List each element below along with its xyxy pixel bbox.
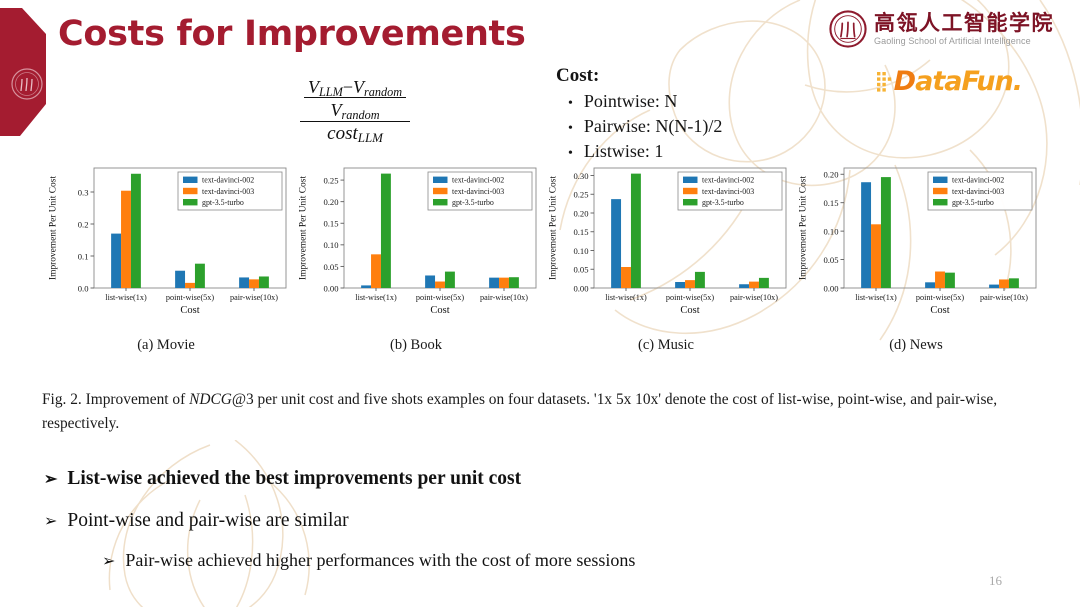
bullet-pointwise-pairwise-similar: ➢ Point-wise and pair-wise are similar bbox=[44, 510, 944, 532]
arrow-bullet-icon: ➢ bbox=[44, 514, 57, 530]
datafun-letters-rest: ataFun. bbox=[915, 66, 1022, 97]
bullet-text: List-wise achieved the best improvements… bbox=[67, 468, 521, 490]
datafun-logo: DataFun. bbox=[876, 66, 1022, 97]
datafun-letter-d: D bbox=[894, 66, 915, 97]
bullet-dot-icon: • bbox=[568, 147, 573, 161]
bullet-dot-icon: • bbox=[568, 122, 573, 136]
subcaption-movie: (a) Movie bbox=[42, 337, 290, 354]
cost-item-label: Listwise: 1 bbox=[584, 141, 664, 162]
subfigure-captions: (a) Movie (b) Book (c) Music (d) News bbox=[42, 337, 1042, 359]
cost-heading: Cost: bbox=[556, 65, 722, 87]
subcaption-news: (d) News bbox=[792, 337, 1040, 354]
datafun-dots-icon bbox=[876, 69, 893, 95]
subcaption-music: (c) Music bbox=[542, 337, 790, 354]
cost-block: Cost: • Pointwise: N • Pairwise: N(N-1)/… bbox=[556, 65, 722, 162]
arrow-bullet-icon: ➢ bbox=[102, 554, 115, 570]
cost-item-pairwise: • Pairwise: N(N-1)/2 bbox=[556, 116, 722, 137]
arrow-bullet-icon: ➢ bbox=[44, 472, 57, 488]
cost-item-pointwise: • Pointwise: N bbox=[556, 91, 722, 112]
page-title: Costs for Improvements bbox=[58, 14, 526, 54]
bullet-text: Pair-wise achieved higher performances w… bbox=[125, 550, 635, 571]
improvement-per-cost-formula: VLLM−Vrandom Vrandom costLLM bbox=[300, 77, 410, 146]
page-number: 16 bbox=[989, 573, 1002, 589]
cost-item-label: Pointwise: N bbox=[584, 91, 678, 112]
bullet-text: Point-wise and pair-wise are similar bbox=[67, 510, 348, 532]
university-seal-icon bbox=[829, 10, 867, 48]
bullet-pairwise-sessions: ➢ Pair-wise achieved higher performances… bbox=[102, 550, 944, 571]
bullet-list: ➢ List-wise achieved the best improvemen… bbox=[44, 468, 944, 571]
university-name-cn: 高瓴人工智能学院 bbox=[874, 13, 1054, 34]
cost-item-label: Pairwise: N(N-1)/2 bbox=[584, 116, 722, 137]
slide-canvas: Costs for Improvements 高瓴人工智能学院 Gaoling … bbox=[0, 0, 1080, 607]
bullet-dot-icon: • bbox=[568, 97, 573, 111]
cost-item-listwise: • Listwise: 1 bbox=[556, 141, 722, 162]
university-brand: 高瓴人工智能学院 Gaoling School of Artificial In… bbox=[829, 10, 1054, 48]
ribbon-seal-icon bbox=[0, 8, 52, 136]
figure-caption-italic: NDCG bbox=[189, 391, 232, 408]
bullet-listwise-best: ➢ List-wise achieved the best improvemen… bbox=[44, 468, 944, 490]
figure-caption: Fig. 2. Improvement of NDCG@3 per unit c… bbox=[42, 388, 1014, 437]
figure-caption-part1: Improvement of bbox=[86, 391, 189, 408]
subcaption-book: (b) Book bbox=[292, 337, 540, 354]
university-name-en: Gaoling School of Artificial Intelligenc… bbox=[874, 37, 1054, 46]
datafun-wordmark: DataFun. bbox=[894, 66, 1022, 97]
figure-caption-label: Fig. 2. bbox=[42, 391, 82, 408]
